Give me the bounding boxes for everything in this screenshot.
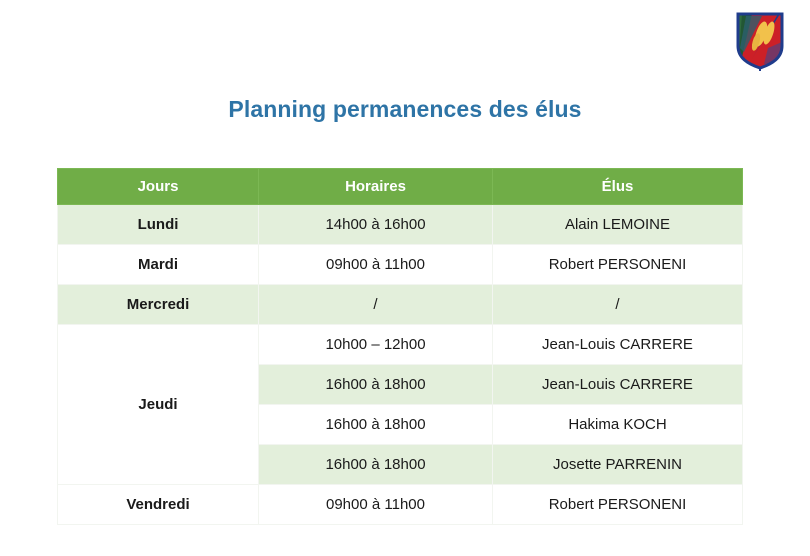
table-body: Lundi 14h00 à 16h00 Alain LEMOINE Mardi … [58, 205, 743, 525]
cell-hours: 10h00 – 12h00 [259, 325, 493, 365]
cell-hours: 16h00 à 18h00 [259, 445, 493, 485]
cell-elu: Alain LEMOINE [493, 205, 743, 245]
table-header: Jours Horaires Élus [58, 169, 743, 205]
cell-hours: 16h00 à 18h00 [259, 405, 493, 445]
cell-elu: Josette PARRENIN [493, 445, 743, 485]
cell-elu: Hakima KOCH [493, 405, 743, 445]
cell-hours: 14h00 à 16h00 [259, 205, 493, 245]
cell-hours: 16h00 à 18h00 [259, 365, 493, 405]
table-row: Mardi 09h00 à 11h00 Robert PERSONENI [58, 245, 743, 285]
cell-elu: Robert PERSONENI [493, 245, 743, 285]
coat-of-arms-logo [728, 8, 792, 72]
cell-elu: / [493, 285, 743, 325]
cell-elu: Robert PERSONENI [493, 485, 743, 525]
table-row: Jeudi 10h00 – 12h00 Jean-Louis CARRERE [58, 325, 743, 365]
cell-day: Vendredi [58, 485, 259, 525]
column-header-elus: Élus [493, 169, 743, 205]
cell-day: Mardi [58, 245, 259, 285]
table-row: Mercredi / / [58, 285, 743, 325]
column-header-horaires: Horaires [259, 169, 493, 205]
cell-hours: 09h00 à 11h00 [259, 485, 493, 525]
permanences-schedule-table: Jours Horaires Élus Lundi 14h00 à 16h00 … [57, 168, 743, 525]
cell-hours: / [259, 285, 493, 325]
cell-elu: Jean-Louis CARRERE [493, 325, 743, 365]
table-row: Lundi 14h00 à 16h00 Alain LEMOINE [58, 205, 743, 245]
cell-day: Lundi [58, 205, 259, 245]
cell-day-jeudi: Jeudi [58, 325, 259, 485]
column-header-jours: Jours [58, 169, 259, 205]
table-row: Vendredi 09h00 à 11h00 Robert PERSONENI [58, 485, 743, 525]
cell-hours: 09h00 à 11h00 [259, 245, 493, 285]
shield-icon [728, 8, 792, 72]
page-title: Planning permanences des élus [0, 96, 810, 123]
table-header-row: Jours Horaires Élus [58, 169, 743, 205]
cell-elu: Jean-Louis CARRERE [493, 365, 743, 405]
cell-day: Mercredi [58, 285, 259, 325]
